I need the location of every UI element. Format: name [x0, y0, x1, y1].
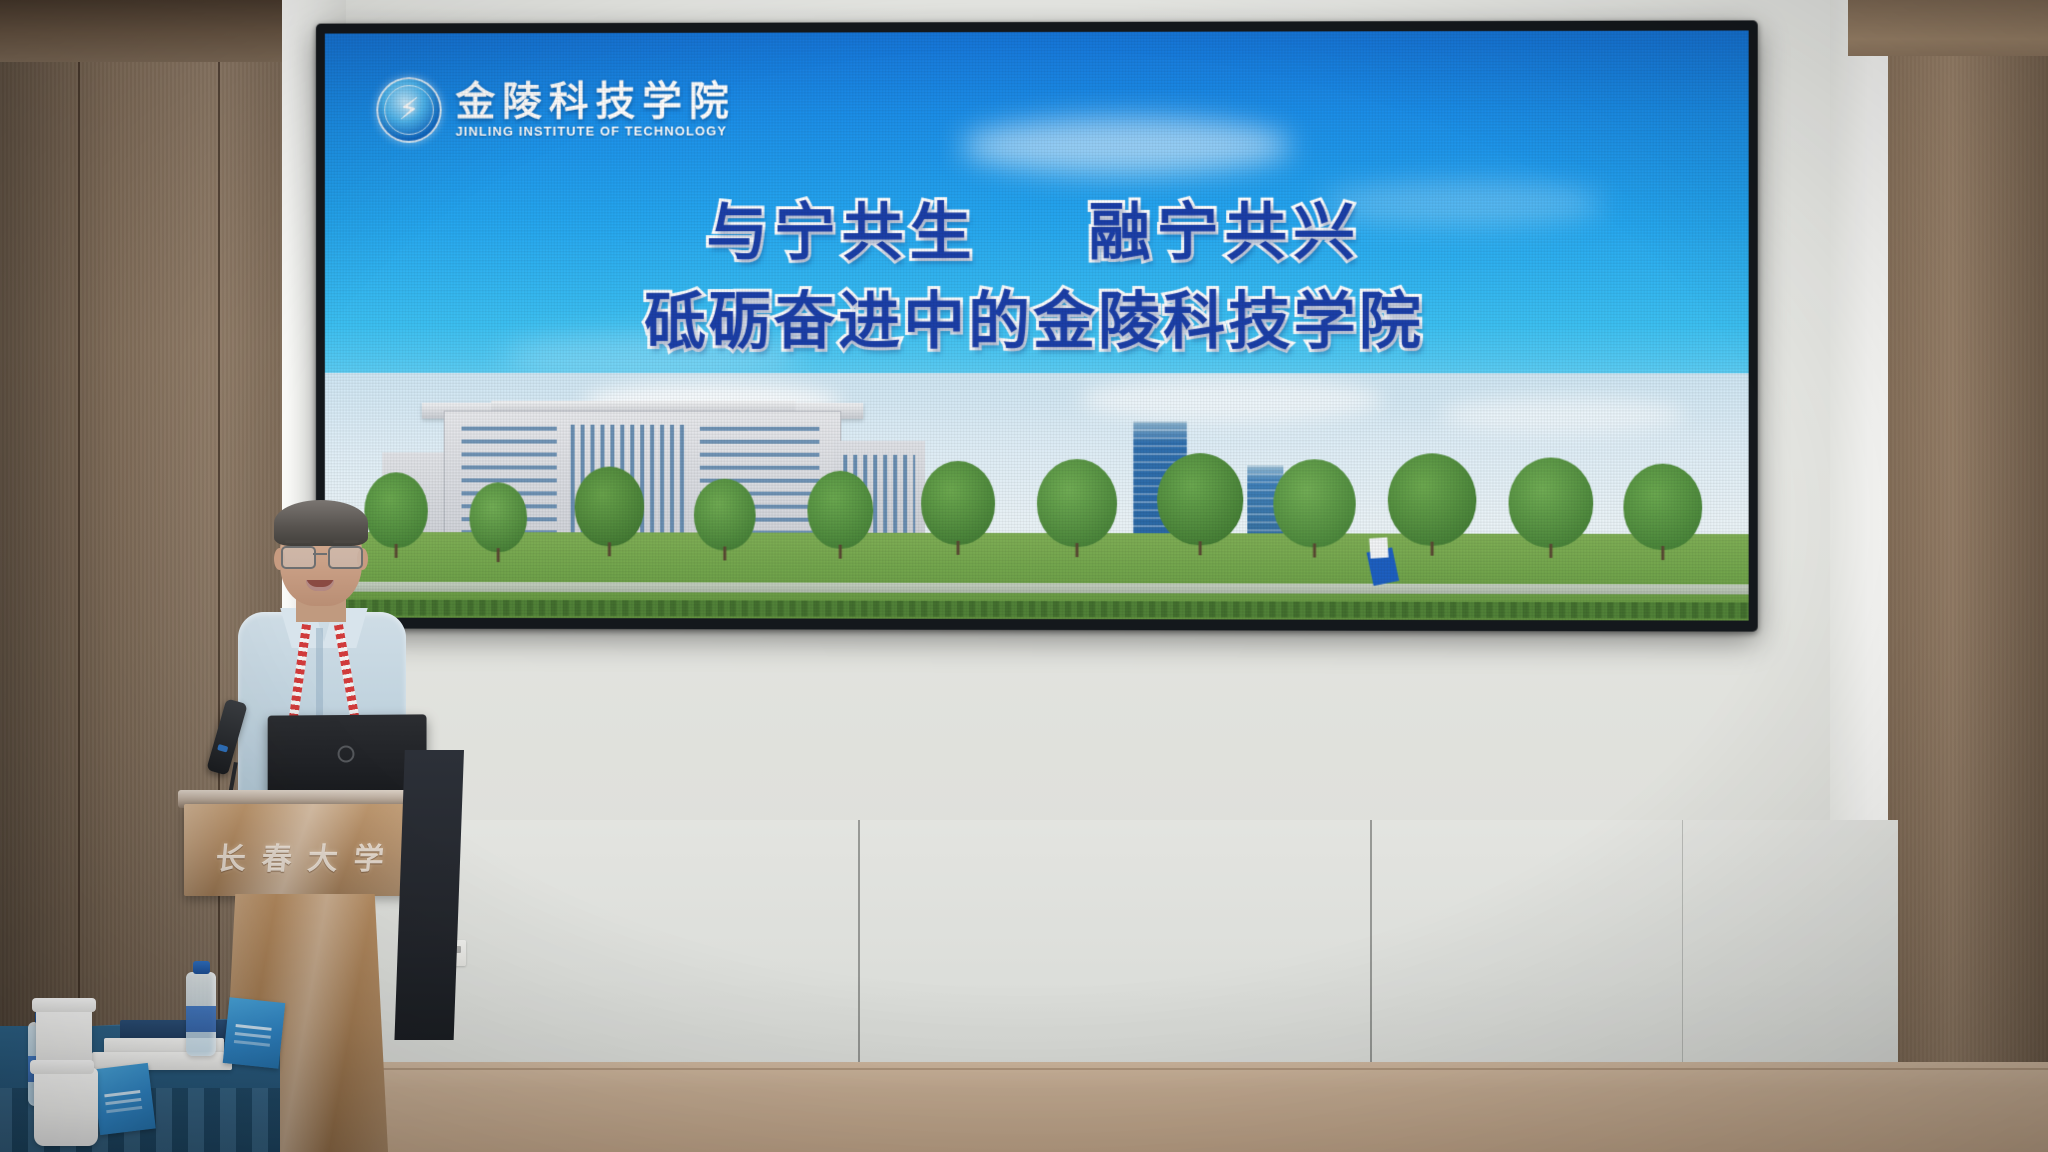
headline-line-1-part-2: 融宁共兴	[1089, 196, 1362, 269]
campus-hedge	[325, 600, 1749, 619]
name-card[interactable]	[92, 1063, 156, 1135]
eyeglasses	[280, 546, 362, 566]
campus-photo	[325, 373, 1749, 621]
podium-front-panel: 长春大学	[184, 804, 432, 896]
laptop-logo-icon	[338, 745, 355, 762]
headline-line-1: 与宁共生 融宁共兴	[325, 197, 1749, 267]
institute-seal-icon: ⚡	[376, 77, 441, 143]
right-wood-column	[1888, 0, 2048, 1152]
right-ceiling-soffit	[1848, 0, 2048, 56]
headline-line-1-part-1: 与宁共生	[706, 196, 977, 269]
slide-surface: ⚡ 金陵科技学院 JINLING INSTITUTE OF TECHNOLOGY…	[325, 30, 1749, 620]
led-video-wall[interactable]: ⚡ 金陵科技学院 JINLING INSTITUTE OF TECHNOLOGY…	[316, 20, 1758, 631]
slide-headline: 与宁共生 融宁共兴 砥砺奋进中的金陵科技学院	[325, 197, 1749, 357]
front-table	[0, 952, 330, 1152]
headline-line-2: 砥砺奋进中的金陵科技学院	[325, 287, 1749, 357]
water-bottle[interactable]	[186, 972, 216, 1056]
lightning-bolt-icon: ⚡	[399, 95, 420, 125]
institute-name-cn: 金陵科技学院	[456, 81, 736, 121]
name-card[interactable]	[223, 997, 286, 1068]
lower-white-wall	[282, 820, 1898, 1082]
white-mug[interactable]	[34, 1068, 98, 1146]
institute-name-en: JINLING INSTITUTE OF TECHNOLOGY	[456, 123, 736, 138]
podium-venue-name: 长春大学	[182, 834, 434, 878]
institute-logo: ⚡ 金陵科技学院 JINLING INSTITUTE OF TECHNOLOGY	[376, 77, 735, 143]
presentation-room-photo: ⚡ 金陵科技学院 JINLING INSTITUTE OF TECHNOLOGY…	[0, 0, 2048, 1152]
left-ceiling-soffit	[0, 0, 300, 62]
